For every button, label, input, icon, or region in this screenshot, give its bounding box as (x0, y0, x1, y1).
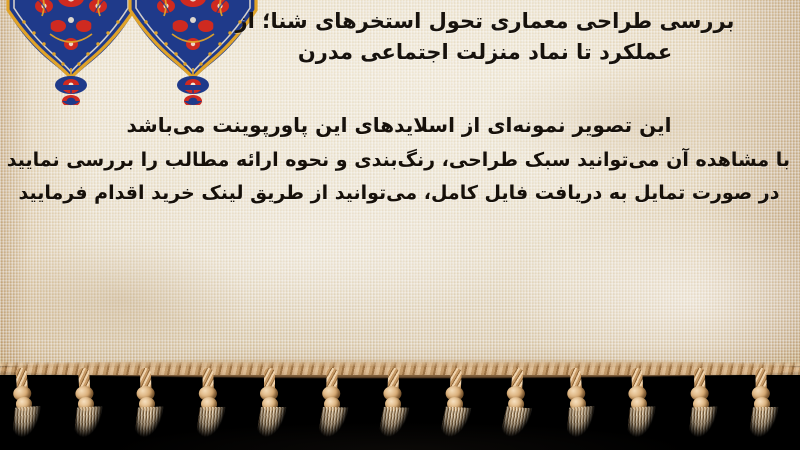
fringe-tassel (252, 368, 286, 442)
fringe-tassel (743, 368, 778, 443)
fringe-tassel (495, 367, 534, 443)
tassel-skirt (748, 407, 779, 442)
tassel-skirt (12, 406, 41, 442)
slide-body-line-1: این تصویر نمونه‌ای از اسلایدهای این پاور… (8, 108, 790, 144)
fringe-tassel (557, 367, 596, 443)
tassel-skirt (688, 406, 718, 441)
tassel-skirt (626, 406, 656, 442)
fringe-tassel (619, 367, 657, 443)
tassel-skirt (566, 406, 595, 442)
fringe-tassel (374, 367, 411, 442)
tassel-skirt (73, 406, 103, 442)
fringe-tassel (435, 367, 473, 443)
slide-canvas: بررسی طراحی معماری تحول استخرهای شنا؛ از… (0, 0, 800, 450)
tassel-skirt (317, 407, 349, 441)
tassel-skirt (255, 407, 286, 441)
slide-body-text: این تصویر نمونه‌ای از اسلایدهای این پاور… (8, 108, 790, 211)
tassel-skirt (195, 407, 226, 442)
tassel-skirt (438, 407, 471, 442)
persian-medallion-ornament-left (6, 0, 136, 105)
slide-title-line-2: عملکرد تا نماد منزلت اجتماعی مدرن (225, 37, 745, 68)
fringe-tassel (3, 367, 42, 443)
fringe-tassel (66, 367, 104, 443)
fringe-tassel (190, 368, 225, 443)
tassel-skirt (377, 407, 410, 442)
slide-body-line-2: با مشاهده آن می‌توانید سبک طراحی، رنگ‌بن… (8, 144, 790, 178)
fringe-tassel (313, 368, 348, 443)
slide-title: بررسی طراحی معماری تحول استخرهای شنا؛ از… (225, 6, 745, 67)
fringe-tassel (128, 367, 165, 442)
slide-title-line-1: بررسی طراحی معماری تحول استخرهای شنا؛ از (225, 6, 745, 37)
carpet-fringe-tassels (0, 368, 800, 450)
tassel-skirt (499, 406, 533, 441)
tassel-skirt (134, 406, 164, 441)
fringe-tassel (682, 367, 719, 442)
slide-body-line-3: در صورت تمایل به دریافت فایل کامل، می‌تو… (8, 177, 790, 211)
